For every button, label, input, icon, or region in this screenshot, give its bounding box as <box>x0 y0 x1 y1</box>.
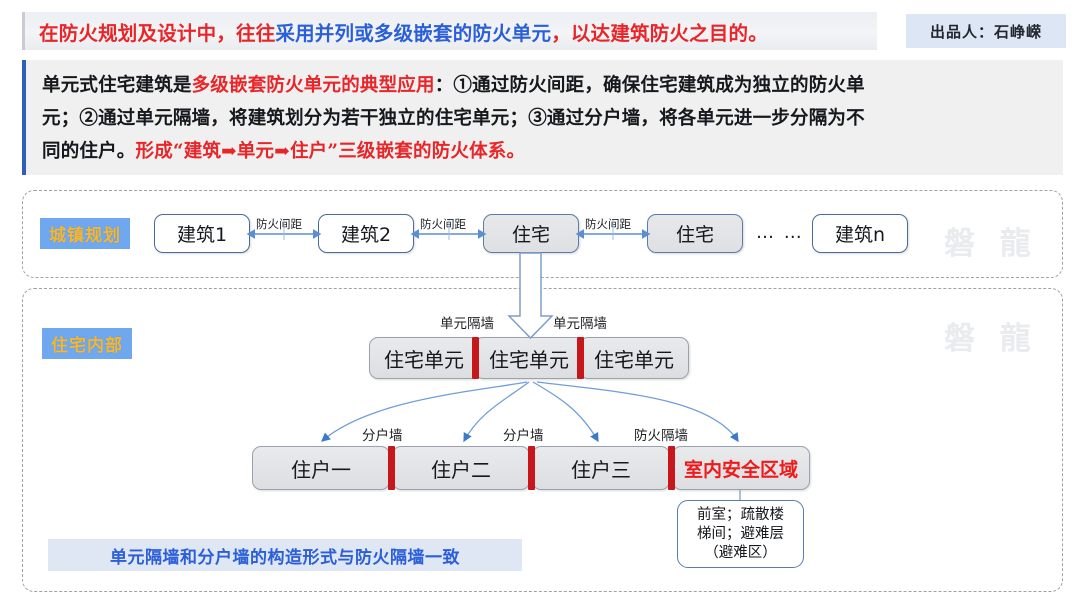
node-household-2[interactable]: 住户二 <box>392 446 530 490</box>
connector-label-party-wall-2: 分户墙 <box>503 424 544 444</box>
node-household-1[interactable]: 住户一 <box>252 446 390 490</box>
footer-note-band: 单元隔墙和分户墙的构造形式与防火隔墙一致 <box>48 539 522 571</box>
node-household-2-label: 住户二 <box>431 454 491 483</box>
connector-label-unit-wall-2: 单元隔墙 <box>553 312 607 332</box>
title-segment-1: 在防火规划及设计中，往往 <box>39 22 275 45</box>
paragraph-line-1: 单元式住宅建筑是多级嵌套防火单元的典型应用：①通过防火间距，确保住宅建筑成为独立… <box>42 69 1051 102</box>
node-dwelling-unit-2[interactable]: 住宅单元 <box>474 337 584 379</box>
wall-divider-household-1 <box>388 446 395 490</box>
node-indoor-safe-zone[interactable]: 室内安全区域 <box>672 446 810 490</box>
wall-divider-household-3 <box>668 446 675 490</box>
node-residence-2-label: 住宅 <box>676 220 714 247</box>
title-segment-2: 采用并列或多级嵌套的防火单元 <box>275 22 551 45</box>
paragraph-seg-3-2: 形成“建筑➡单元➡住户”三级嵌套的防火体系。 <box>136 141 526 162</box>
note-safe-zone-line-3: （避难区） <box>704 544 777 563</box>
author-badge: 出品人：石峥嵘 <box>906 14 1066 48</box>
watermark-bottom: 磐 龍 <box>944 313 1038 358</box>
paragraph-seg-1-1: 单元式住宅建筑是 <box>42 75 192 96</box>
paragraph-seg-1-3: ：①通过防火间距，确保住宅建筑成为独立的防火单 <box>435 75 865 96</box>
node-indoor-safe-zone-label: 室内安全区域 <box>684 455 798 482</box>
node-dwelling-unit-3[interactable]: 住宅单元 <box>579 337 689 379</box>
group-tag-urban-planning: 城镇规划 <box>40 218 130 249</box>
title-segment-3: ，以达建筑防火之目的。 <box>551 22 768 45</box>
watermark-top: 磐 龍 <box>944 218 1038 263</box>
note-safe-zone-line-1: 前室；疏散楼 <box>697 506 784 525</box>
paragraph-seg-2-1: 元；②通过单元隔墙，将建筑划分为若干独立的住宅单元；③通过分户墙，将各单元进一步… <box>42 108 865 129</box>
node-household-1-label: 住户一 <box>291 454 351 483</box>
node-residence-2[interactable]: 住宅 <box>647 214 743 253</box>
slide-root: 在防火规划及设计中，往往采用并列或多级嵌套的防火单元，以达建筑防火之目的。 出品… <box>0 0 1080 608</box>
node-building-n[interactable]: 建筑n <box>812 214 908 253</box>
paragraph-line-3: 同的住户。形成“建筑➡单元➡住户”三级嵌套的防火体系。 <box>42 135 1051 168</box>
node-building-2-label: 建筑2 <box>341 220 391 247</box>
node-household-3[interactable]: 住户三 <box>532 446 670 490</box>
wall-divider-unit-2 <box>577 337 584 379</box>
connector-label-party-wall-1: 分户墙 <box>362 424 403 444</box>
paragraph-line-2: 元；②通过单元隔墙，将建筑划分为若干独立的住宅单元；③通过分户墙，将各单元进一步… <box>42 102 1051 135</box>
paragraph-seg-1-2: 多级嵌套防火单元的典型应用 <box>192 75 435 96</box>
connector-label-fire-gap-2: 防火间距 <box>420 216 466 232</box>
page-title: 在防火规划及设计中，往往采用并列或多级嵌套的防火单元，以达建筑防火之目的。 <box>39 17 768 46</box>
connector-label-unit-wall-1: 单元隔墙 <box>440 312 494 332</box>
wall-divider-household-2 <box>528 446 535 490</box>
note-safe-zone-contents: 前室；疏散楼 梯间；避难层 （避难区） <box>677 500 804 568</box>
ellipsis-more-buildings: … … <box>756 222 804 243</box>
node-dwelling-unit-3-label: 住宅单元 <box>594 344 674 373</box>
description-paragraph: 单元式住宅建筑是多级嵌套防火单元的典型应用：①通过防火间距，确保住宅建筑成为独立… <box>22 60 1063 175</box>
node-dwelling-unit-1[interactable]: 住宅单元 <box>369 337 479 379</box>
connector-label-fire-gap-3: 防火间距 <box>585 216 631 232</box>
wall-divider-unit-1 <box>472 337 479 379</box>
node-dwelling-unit-2-label: 住宅单元 <box>489 344 569 373</box>
paragraph-seg-3-1: 同的住户。 <box>42 141 136 162</box>
group-tag-residence-interior: 住宅内部 <box>42 328 132 359</box>
node-building-n-label: 建筑n <box>835 220 885 247</box>
node-building-1-label: 建筑1 <box>177 220 227 247</box>
node-household-3-label: 住户三 <box>571 454 631 483</box>
footer-note-text: 单元隔墙和分户墙的构造形式与防火隔墙一致 <box>110 543 460 568</box>
node-residence-1[interactable]: 住宅 <box>483 214 579 253</box>
node-building-1[interactable]: 建筑1 <box>154 214 250 253</box>
connector-label-fire-partition: 防火隔墙 <box>634 424 688 444</box>
slide-title-bar: 在防火规划及设计中，往往采用并列或多级嵌套的防火单元，以达建筑防火之目的。 <box>22 12 877 50</box>
node-dwelling-unit-1-label: 住宅单元 <box>384 344 464 373</box>
note-safe-zone-line-2: 梯间；避难层 <box>697 525 784 544</box>
author-label: 出品人：石峥嵘 <box>930 21 1042 42</box>
node-residence-1-label: 住宅 <box>512 220 550 247</box>
node-building-2[interactable]: 建筑2 <box>318 214 414 253</box>
connector-label-fire-gap-1: 防火间距 <box>256 216 302 232</box>
